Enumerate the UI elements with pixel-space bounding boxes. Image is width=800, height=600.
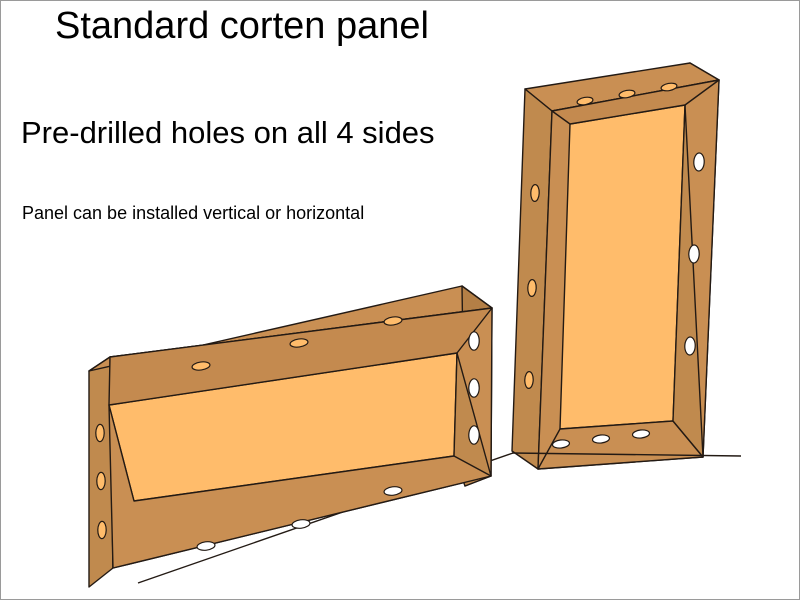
hole-h-left-2	[97, 472, 106, 489]
hole-right-3	[684, 337, 695, 355]
slide-canvas: Standard corten panel Pre-drilled holes …	[0, 0, 800, 600]
subtitle-text: Pre-drilled holes on all 4 sides	[21, 114, 435, 152]
hole-h-right-2	[469, 379, 480, 398]
panel-isometric-drawing	[1, 1, 800, 600]
hole-left-2	[528, 279, 537, 296]
hole-h-left-3	[98, 521, 107, 538]
hole-h-left-1	[96, 424, 105, 441]
page-title: Standard corten panel	[55, 3, 429, 49]
hole-h-right-3	[469, 426, 480, 445]
vertical-panel-inner-face	[560, 105, 685, 429]
hole-left-1	[531, 184, 540, 201]
vertical-panel	[512, 63, 719, 469]
hole-h-right-1	[469, 332, 480, 351]
hole-right-2	[688, 245, 699, 263]
hole-right-1	[693, 153, 704, 171]
note-text: Panel can be installed vertical or horiz…	[22, 201, 364, 225]
hole-left-3	[525, 371, 534, 388]
horizontal-panel	[89, 286, 492, 587]
